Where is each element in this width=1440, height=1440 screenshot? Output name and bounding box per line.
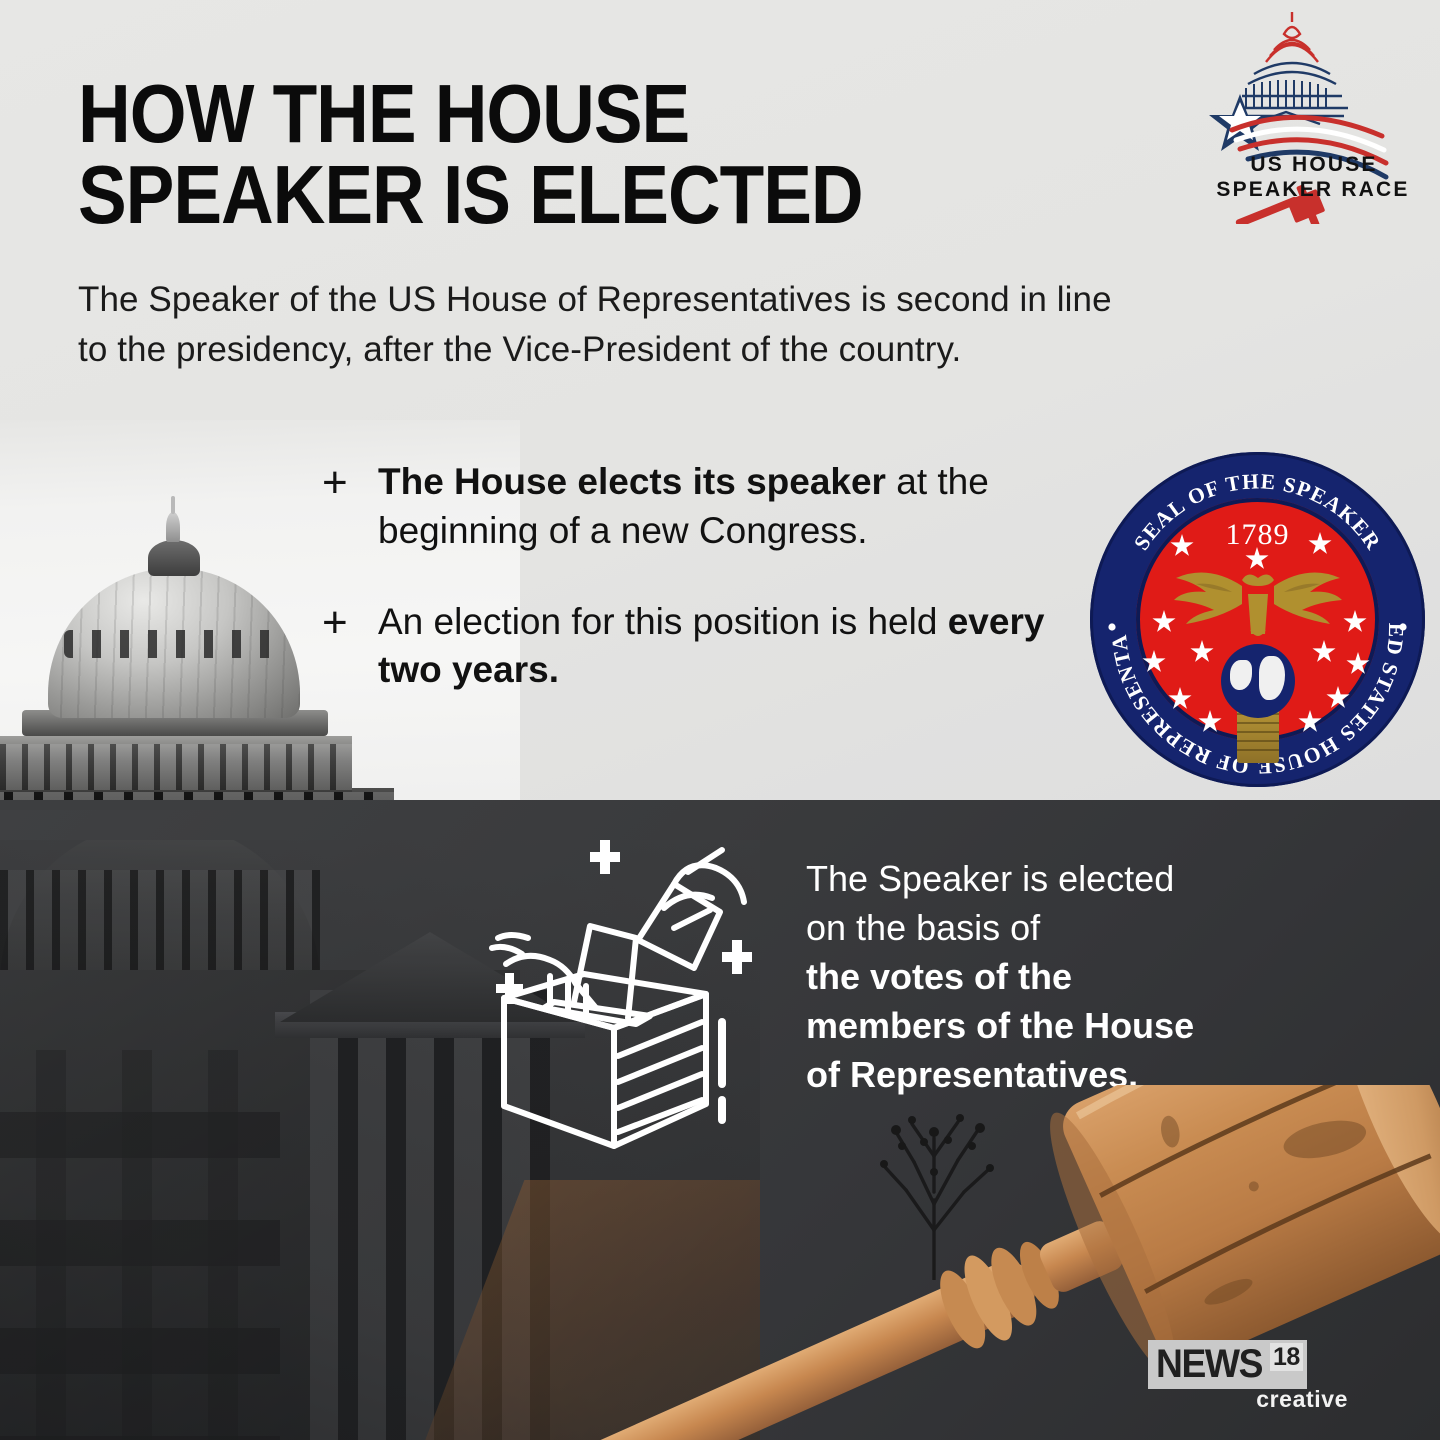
infographic-poster: HOW THE HOUSE SPEAKER IS ELECTED The Spe…: [0, 0, 1440, 1440]
dome-peristyle: [0, 736, 352, 792]
globe-icon: [1221, 644, 1295, 718]
bullet-item-2: + An election for this position is held …: [322, 598, 1052, 696]
news18-logo: NEWS 18 creative: [1148, 1340, 1348, 1426]
seal-year: 1789: [1090, 518, 1425, 552]
bullet-2-prefix: An election for this position is held: [378, 601, 948, 642]
speaker-seal: SEAL OF THE SPEAKER UNITED STATES HOUSE …: [1090, 452, 1425, 787]
dark-text-bold: the votes of the members of the House of…: [806, 956, 1194, 1095]
news18-tagline: creative: [1256, 1386, 1348, 1413]
dark-text-plain: The Speaker is elected on the basis of: [806, 858, 1174, 948]
eagle-icon: [1172, 560, 1344, 652]
dark-left-step: [0, 800, 318, 810]
bullet-list: + The House elects its speaker at the be…: [322, 458, 1052, 737]
page-title: HOW THE HOUSE SPEAKER IS ELECTED: [78, 74, 958, 235]
logo-line-1: US HOUSE: [1212, 152, 1416, 177]
news18-word-box: NEWS 18: [1148, 1340, 1307, 1389]
dome-drum: [148, 540, 200, 576]
plus-marker-icon: +: [322, 458, 378, 508]
dome-colonnade-icon: [1236, 63, 1348, 108]
dome-lantern-icon: [166, 512, 180, 542]
bullet-text-1: The House elects its speaker at the begi…: [378, 458, 1052, 556]
logo-line-2: SPEAKER RACE: [1202, 177, 1424, 202]
bullet-text-2: An election for this position is held ev…: [378, 598, 1052, 696]
dark-panel-text: The Speaker is elected on the basis of t…: [806, 855, 1326, 1100]
dome-columns-icon: [1246, 80, 1326, 109]
capitol-dome-icon: [1266, 12, 1318, 62]
news18-word: NEWS: [1156, 1343, 1262, 1385]
bullet-1-bold: The House elects its speaker: [378, 461, 886, 502]
gavel-handle: [0, 1253, 1043, 1440]
dome-windows: [64, 630, 286, 658]
plus-marker-icon: +: [322, 598, 378, 648]
page-subtitle: The Speaker of the US House of Represent…: [78, 275, 1348, 374]
bullet-item-1: + The House elects its speaker at the be…: [322, 458, 1052, 556]
news18-number: 18: [1270, 1343, 1303, 1371]
us-house-speaker-race-logo: US HOUSE SPEAKER RACE: [1196, 12, 1428, 224]
